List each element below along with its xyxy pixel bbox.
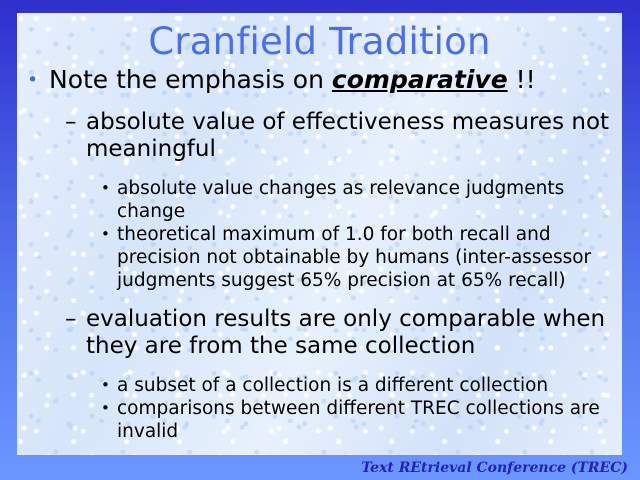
page-title: Cranfield Tradition xyxy=(17,22,622,62)
bullet-dot-icon: • xyxy=(27,65,49,95)
list-item: • absolute value changes as relevance ju… xyxy=(17,177,622,223)
list-item-text: evaluation results are only comparable w… xyxy=(86,306,616,360)
list-item: • comparisons between different TREC col… xyxy=(17,397,622,443)
list-item: – absolute value of effectiveness measur… xyxy=(17,109,622,163)
list-item-text: Note the emphasis on comparative !! xyxy=(49,65,622,95)
slide-footer: Text REtrieval Conference (TREC) xyxy=(361,458,628,478)
bullet-dash-icon: – xyxy=(65,109,86,136)
bullet-dot-icon: • xyxy=(101,374,117,397)
slide-content-panel: Cranfield Tradition • Note the emphasis … xyxy=(17,13,622,455)
list-item: • theoretical maximum of 1.0 for both re… xyxy=(17,223,622,292)
bullet-dot-icon: • xyxy=(101,397,117,420)
bullet-dot-icon: • xyxy=(101,223,117,246)
list-item-text-after: !! xyxy=(508,65,536,94)
list-item-text: theoretical maximum of 1.0 for both reca… xyxy=(117,223,607,292)
bullet-dot-icon: • xyxy=(101,177,117,200)
list-item-text: absolute value of effectiveness measures… xyxy=(86,109,616,163)
list-item-emphasis: comparative xyxy=(332,65,508,94)
list-item-text: a subset of a collection is a different … xyxy=(117,374,607,397)
list-item-text: comparisons between different TREC colle… xyxy=(117,397,607,443)
list-item: • Note the emphasis on comparative !! xyxy=(17,65,622,95)
list-item-text: absolute value changes as relevance judg… xyxy=(117,177,607,223)
list-item: – evaluation results are only comparable… xyxy=(17,306,622,360)
slide: Cranfield Tradition • Note the emphasis … xyxy=(0,0,640,480)
list-item: • a subset of a collection is a differen… xyxy=(17,374,622,397)
bullet-list: • Note the emphasis on comparative !! – … xyxy=(17,65,622,443)
list-item-text-before: Note the emphasis on xyxy=(49,65,332,94)
bullet-dash-icon: – xyxy=(65,306,86,333)
